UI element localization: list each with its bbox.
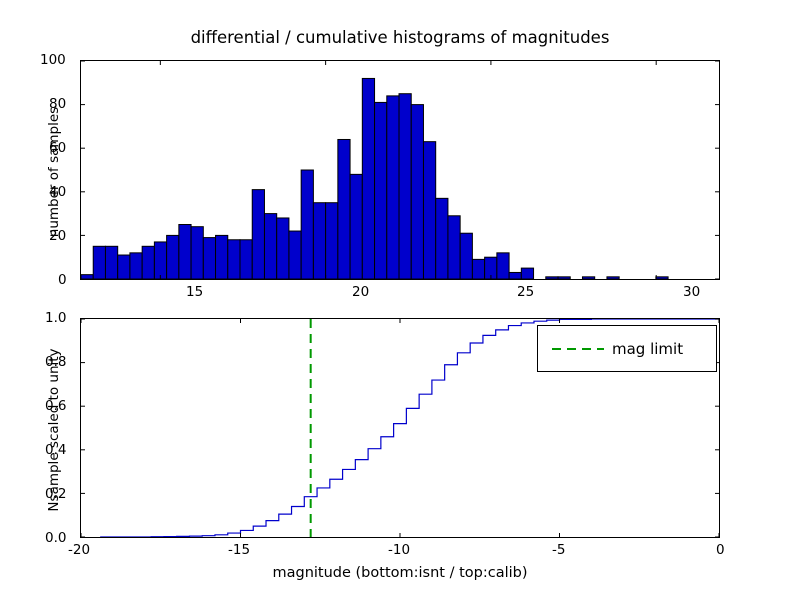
histogram-bar	[656, 277, 668, 279]
histogram-bar	[203, 238, 215, 279]
histogram-bar	[423, 142, 435, 279]
legend-mag-limit-line	[552, 347, 604, 351]
x-tick-label-bottom: -15	[228, 542, 250, 558]
histogram-bar	[105, 246, 117, 279]
histogram-bar	[460, 233, 472, 279]
histogram-bar	[154, 242, 166, 279]
histogram-bar	[240, 240, 252, 279]
histogram-bars	[81, 78, 668, 279]
x-tick-label-bottom: -5	[552, 542, 565, 558]
histogram-bar	[326, 203, 338, 279]
histogram-bar	[191, 227, 203, 279]
histogram-bar	[436, 198, 448, 279]
histogram-bar	[607, 277, 619, 279]
histogram-bar	[546, 277, 558, 279]
x-tick-label-top: 25	[517, 284, 534, 300]
y-axis-label-top: number of samples	[46, 62, 62, 282]
y-axis-label-bottom: Nsample scaled to unity	[46, 305, 62, 555]
figure-canvas: differential / cumulative histograms of …	[0, 0, 800, 600]
histogram-bar	[521, 268, 533, 279]
histogram-bar	[448, 216, 460, 279]
histogram-bar	[264, 214, 276, 279]
histogram-bar	[362, 78, 374, 279]
histogram-bar	[118, 255, 130, 279]
histogram-bar	[497, 253, 509, 279]
histogram-bar	[167, 235, 179, 279]
histogram-bar	[301, 170, 313, 279]
x-tick-label-bottom: -20	[68, 542, 90, 558]
histogram-bar	[338, 139, 350, 279]
histogram-bar	[142, 246, 154, 279]
histogram-bar	[277, 218, 289, 279]
histogram-bar	[399, 94, 411, 279]
histogram-bar	[411, 105, 423, 279]
x-axis-label: magnitude (bottom:isnt / top:calib)	[0, 565, 800, 581]
chart-title: differential / cumulative histograms of …	[0, 28, 800, 47]
x-tick-label-bottom: -10	[388, 542, 410, 558]
differential-histogram-plot	[81, 61, 719, 279]
histogram-bar	[93, 246, 105, 279]
histogram-bar	[558, 277, 570, 279]
histogram-bar	[179, 225, 191, 280]
x-tick-label-top: 20	[352, 284, 369, 300]
x-tick-label-top: 15	[186, 284, 203, 300]
histogram-bar	[313, 203, 325, 279]
histogram-bar	[350, 174, 362, 279]
histogram-bar	[387, 96, 399, 279]
histogram-bar	[252, 190, 264, 279]
x-tick-label-top: 30	[683, 284, 700, 300]
histogram-bar	[289, 231, 301, 279]
x-tick-label-bottom: 0	[716, 542, 725, 558]
histogram-bar	[228, 240, 240, 279]
histogram-bar	[216, 235, 228, 279]
legend-label-mag-limit: mag limit	[612, 340, 683, 358]
histogram-bar	[81, 275, 93, 279]
histogram-bar	[375, 102, 387, 279]
histogram-bar	[509, 272, 521, 279]
histogram-bar	[472, 259, 484, 279]
histogram-bar	[582, 277, 594, 279]
differential-histogram-axes	[80, 60, 720, 280]
histogram-bar	[130, 253, 142, 279]
